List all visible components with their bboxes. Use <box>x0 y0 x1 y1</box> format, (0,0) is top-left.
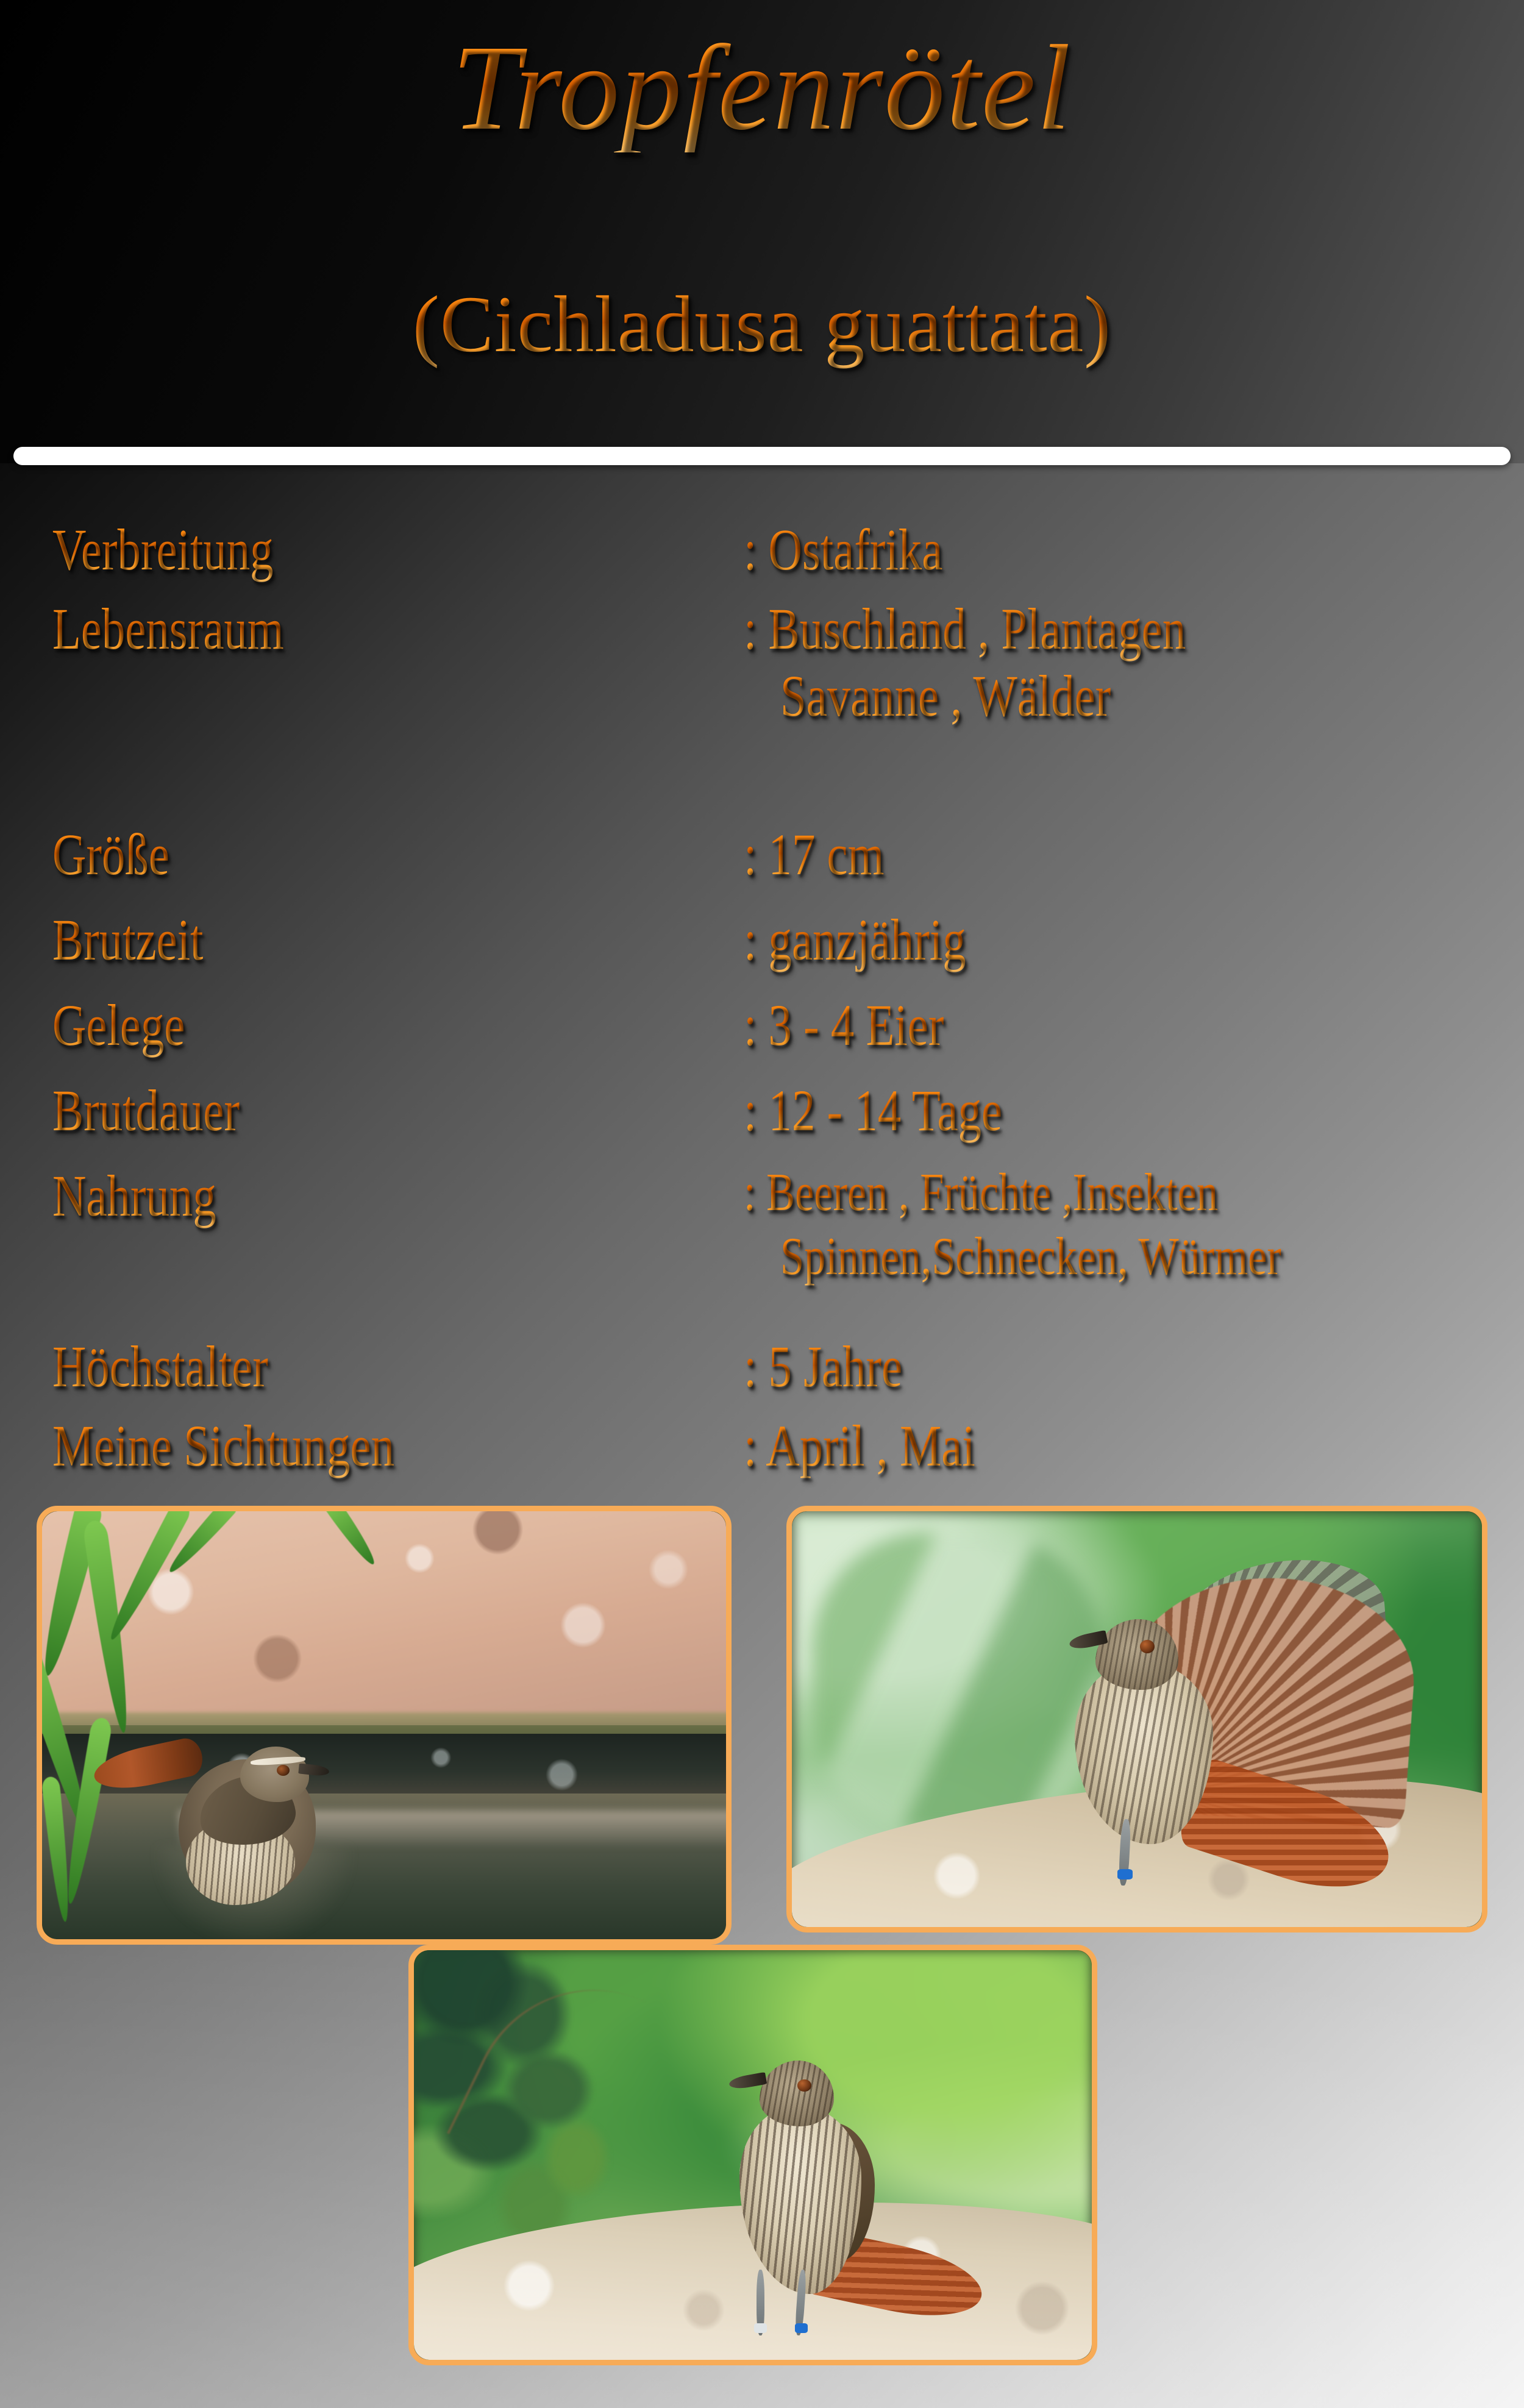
row-value-meine-sichtungen: : April , Mai <box>744 1412 975 1480</box>
row-label-brutdauer: Brutdauer <box>52 1077 240 1144</box>
row-value-brutzeit: : ganzjährig <box>744 906 966 974</box>
row-value-brutdauer: : 12 - 14 Tage <box>744 1077 1002 1144</box>
photo-1-content <box>42 1511 726 1939</box>
row-value-groesse: : 17 cm <box>744 821 884 888</box>
row-label-gelege: Gelege <box>52 991 185 1059</box>
photo-bird-spread-wing-on-rock <box>786 1506 1487 1932</box>
bird-leg-band <box>1117 1869 1133 1880</box>
page-title: Tropfenrötel <box>0 24 1524 152</box>
row-label-verbreitung: Verbreitung <box>52 516 274 583</box>
photo-bird-standing-on-rock <box>408 1945 1097 2365</box>
bird-head <box>240 1747 308 1802</box>
row-label-nahrung: Nahrung <box>52 1162 216 1230</box>
row-value-nahrung: : Beeren , Früchte ,Insekten <box>744 1162 1218 1224</box>
row-value-gelege: : 3 - 4 Eier <box>744 991 944 1059</box>
row-label-brutzeit: Brutzeit <box>52 906 203 974</box>
photo-bird-bathing-in-water <box>37 1506 732 1945</box>
header-divider-bar <box>13 447 1511 465</box>
poster-page: Tropfenrötel (Cichladusa guattata) Verbr… <box>0 0 1524 2408</box>
row-value-verbreitung: : Ostafrika <box>744 516 942 583</box>
bird-leg-band <box>754 2323 767 2333</box>
stone-surface <box>42 1511 726 1725</box>
row-value-nahrung-line2: Spinnen,Schnecken, Würmer <box>780 1226 1281 1288</box>
row-label-hoechstalter: Höchstalter <box>52 1333 268 1400</box>
page-subtitle-scientific-name: (Cichladusa guattata) <box>0 277 1524 371</box>
row-label-lebensraum: Lebensraum <box>52 595 284 663</box>
blurred-leaves <box>813 1532 1102 1831</box>
row-value-hoechstalter: : 5 Jahre <box>744 1333 902 1400</box>
row-value-lebensraum: : Buschland , Plantagen <box>744 595 1186 663</box>
bird-leg-band <box>795 2323 808 2333</box>
photo-3-content <box>414 1950 1092 2360</box>
photo-2-content <box>792 1511 1482 1927</box>
row-value-lebensraum-line2: Savanne , Wälder <box>780 662 1111 730</box>
bird-eye <box>797 2079 811 2091</box>
bird-eye <box>277 1765 290 1776</box>
row-label-groesse: Größe <box>52 821 169 888</box>
row-label-meine-sichtungen: Meine Sichtungen <box>52 1412 394 1480</box>
